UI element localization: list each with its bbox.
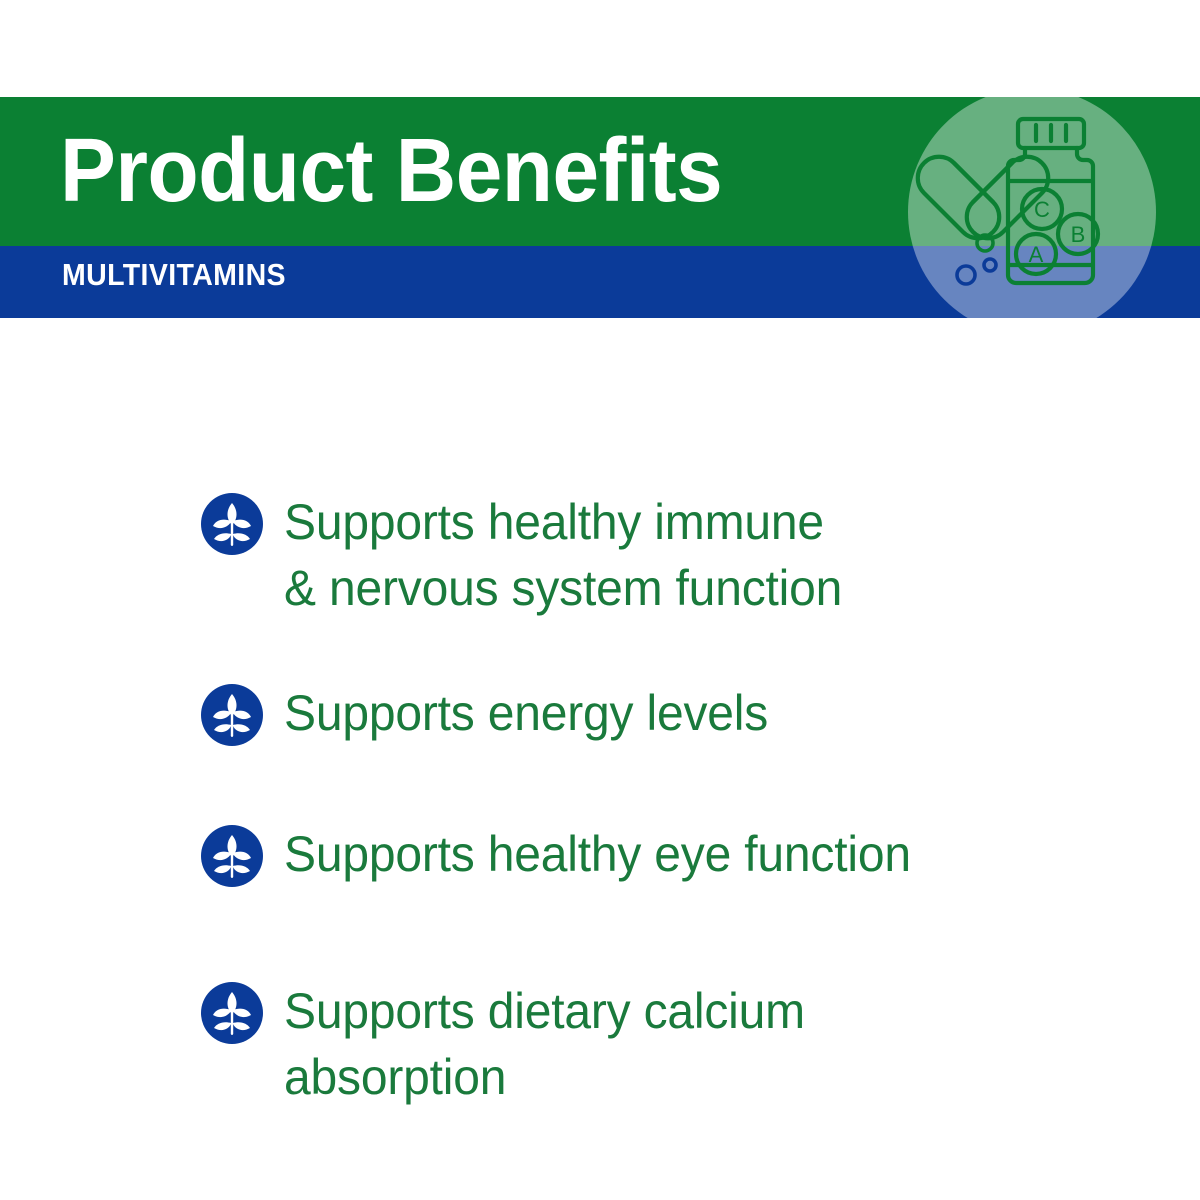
benefit-text: Supports energy levels [284,680,768,746]
benefit-text: Supports healthy immune & nervous system… [284,489,842,621]
product-benefits-infographic: C B A Product Benefits MULTIVITAMINS [0,0,1200,1200]
benefit-text: Supports dietary calcium absorption [284,978,805,1110]
benefit-item: Supports dietary calcium absorption [200,978,827,1110]
sprout-leaf-icon [200,683,264,747]
sprout-leaf-icon [200,981,264,1045]
sprout-leaf-icon [200,824,264,888]
benefit-item: Supports healthy immune & nervous system… [200,489,865,621]
benefit-item: Supports healthy eye function [200,821,937,887]
benefits-list: Supports healthy immune & nervous system… [0,0,1200,1200]
benefit-item: Supports energy levels [200,680,788,746]
sprout-leaf-icon [200,492,264,556]
benefit-text: Supports healthy eye function [284,821,911,887]
